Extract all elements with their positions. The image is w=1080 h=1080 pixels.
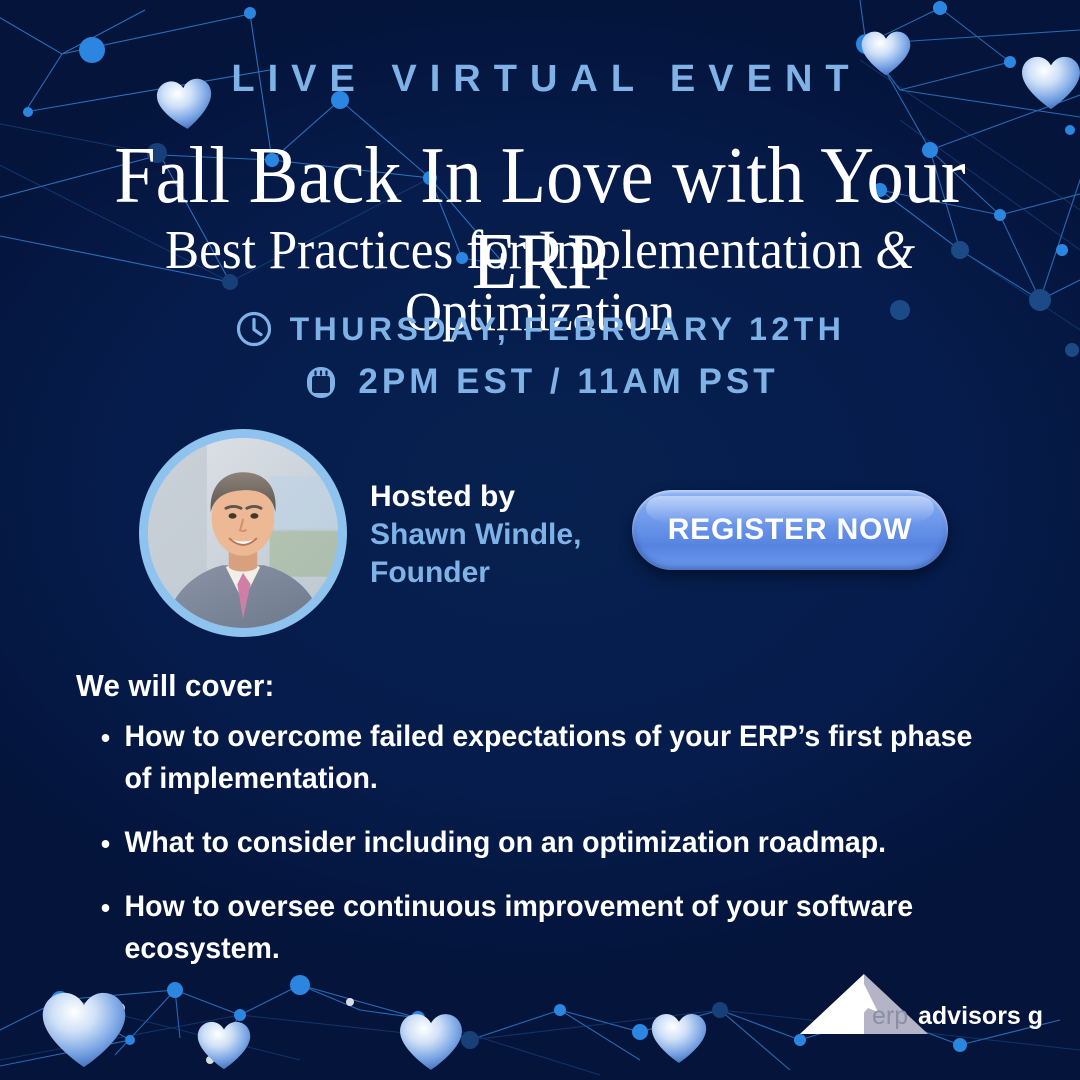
host-lead-label: Hosted by (370, 478, 581, 516)
event-time-text: 2PM EST / 11AM PST (358, 362, 778, 402)
event-poster: LIVE VIRTUAL EVENT Fall Back In Love wit… (0, 0, 1080, 1080)
register-now-button[interactable]: REGISTER NOW (632, 490, 948, 570)
logo-word-light: erp (872, 1002, 908, 1030)
logo-word-bold: advisors group (918, 1002, 1044, 1030)
cover-heading: We will cover: (76, 668, 275, 704)
avatar-photo (148, 438, 338, 628)
event-date-row: THURSDAY, FEBRUARY 12TH (0, 310, 1080, 348)
mountain-icon (800, 974, 928, 1034)
cover-list: How to overcome failed expectations of y… (96, 716, 1026, 992)
subtitle-part-one: Best Practices for Implementation (165, 219, 875, 280)
event-date-text: THURSDAY, FEBRUARY 12TH (290, 311, 846, 348)
brand-logo: erp advisors group (794, 968, 1044, 1050)
list-item: What to consider including on an optimiz… (96, 822, 980, 864)
host-name-line1: Shawn Windle, (370, 516, 581, 554)
avatar (139, 429, 347, 637)
host-info: Hosted by Shawn Windle, Founder (370, 478, 581, 592)
event-time-row: 2PM EST / 11AM PST (0, 362, 1080, 402)
calendar-icon (301, 362, 341, 402)
list-item: How to overcome failed expectations of y… (96, 716, 980, 800)
host-name-line2: Founder (370, 554, 581, 592)
clock-icon (235, 310, 273, 348)
ampersand-glyph: & (875, 219, 915, 280)
list-item: How to oversee continuous improvement of… (96, 886, 980, 970)
eyebrow-label: LIVE VIRTUAL EVENT (0, 58, 1080, 101)
